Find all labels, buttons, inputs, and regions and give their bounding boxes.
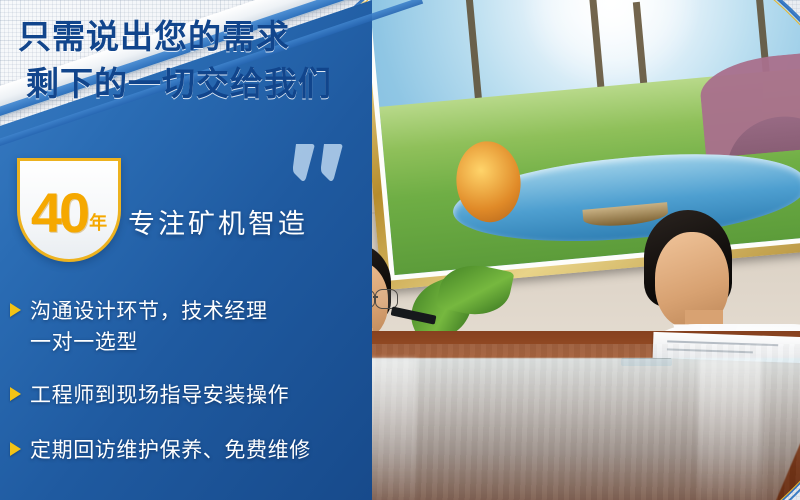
page-title: 只需说出您的需求 剩下的一切交给我们 — [18, 14, 378, 108]
promo-banner: 只需说出您的需求 剩下的一切交给我们 40 年 专注矿机智造 沟通设计环节，技术… — [0, 0, 800, 500]
table-reflection-shirt — [698, 358, 762, 500]
list-item-text: 工程师到现场指导安装操作 — [30, 380, 289, 411]
quote-mark-icon — [292, 142, 354, 182]
triangle-arrow-icon — [10, 442, 21, 456]
list-item-text: 沟通设计环节，技术经理 一对一选型 — [30, 296, 268, 358]
anniversary-unit: 年 — [89, 209, 107, 235]
anniversary-badge: 40 年 — [17, 158, 121, 262]
triangle-arrow-icon — [10, 387, 21, 401]
list-item: 工程师到现场指导安装操作 — [10, 380, 340, 411]
list-item: 沟通设计环节，技术经理 一对一选型 — [10, 296, 340, 358]
anniversary-number: 40 — [31, 185, 87, 241]
list-item-line-1: 沟通设计环节，技术经理 — [30, 300, 268, 323]
eyeglasses-icon — [375, 289, 397, 309]
list-item: 定期回访维护保养、免费维修 — [10, 435, 340, 466]
list-item-line-2: 一对一选型 — [30, 331, 138, 354]
list-item-text: 定期回访维护保养、免费维修 — [30, 435, 311, 466]
headline-line-1: 只需说出您的需求 — [18, 14, 378, 61]
painting-canvas — [361, 0, 800, 275]
headline-line-2: 剩下的一切交给我们 — [18, 61, 378, 108]
feature-list: 沟通设计环节，技术经理 一对一选型 工程师到现场指导安装操作 定期回访维护保养、… — [10, 296, 340, 486]
eyeglasses-bridge — [373, 296, 378, 298]
brand-slogan: 专注矿机智造 — [128, 202, 308, 241]
triangle-arrow-icon — [10, 303, 21, 317]
